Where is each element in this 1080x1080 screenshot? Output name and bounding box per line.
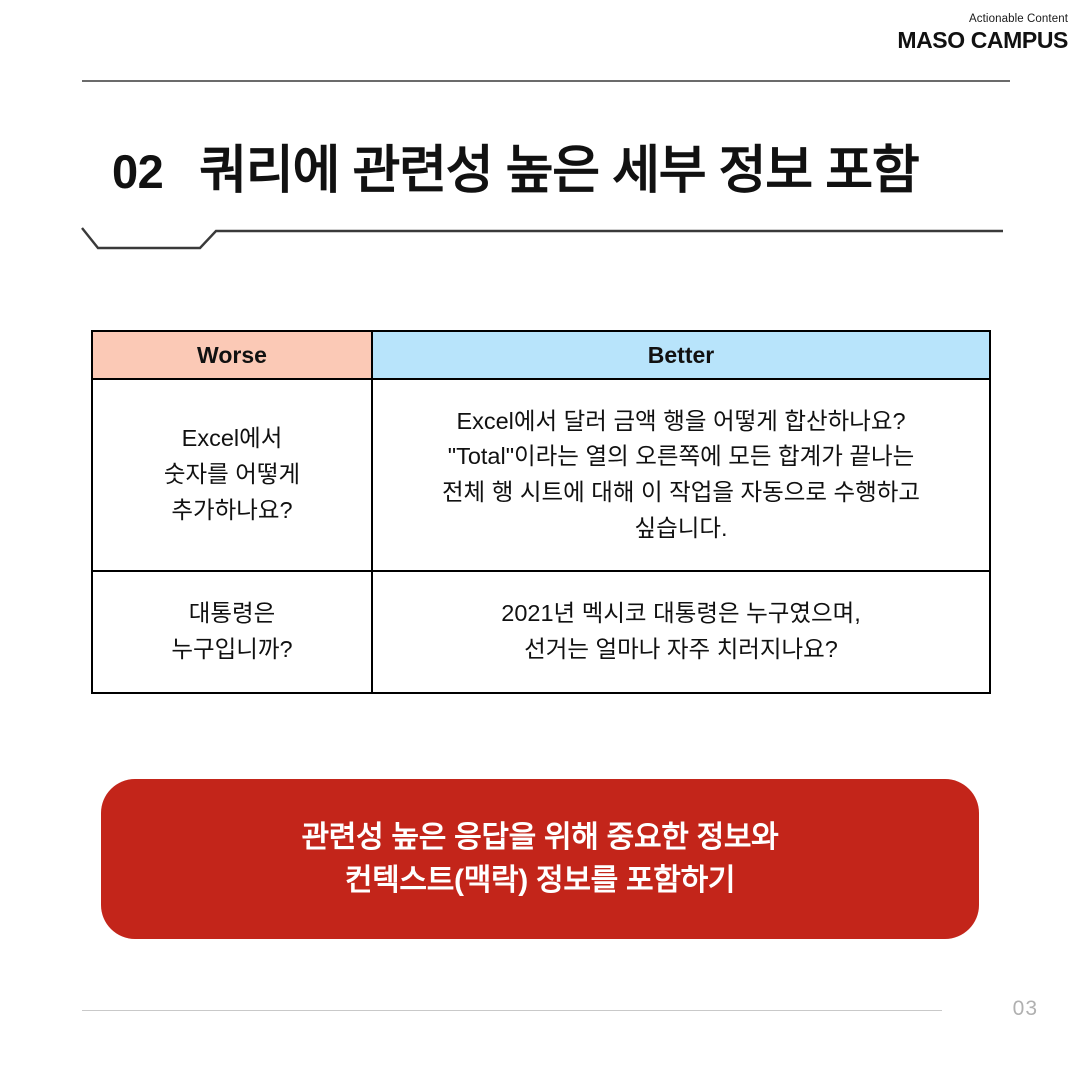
notch-decoration-icon [78, 222, 1003, 256]
callout-text: 관련성 높은 응답을 위해 중요한 정보와컨텍스트(맥락) 정보를 포함하기 [302, 816, 779, 903]
footer-divider [82, 1010, 942, 1011]
cell-worse-2: 대통령은누구입니까? [92, 571, 372, 693]
title-label: 쿼리에 관련성 높은 세부 정보 포함 [199, 128, 918, 203]
brand-logo: Actionable Content MASO CAMPUS [897, 14, 1068, 52]
title-number: 02 [112, 144, 163, 199]
page-title: 02 쿼리에 관련성 높은 세부 정보 포함 [112, 128, 918, 203]
brand-name: MASO CAMPUS [897, 29, 1068, 52]
callout-banner: 관련성 높은 응답을 위해 중요한 정보와컨텍스트(맥락) 정보를 포함하기 [101, 779, 979, 939]
cell-better-1: Excel에서 달러 금액 행을 어떻게 합산하나요?"Total"이라는 열의… [372, 379, 990, 571]
page-number: 03 [1013, 997, 1038, 1021]
table-row: 대통령은누구입니까? 2021년 멕시코 대통령은 누구였으며,선거는 얼마나 … [92, 571, 990, 693]
brand-tagline: Actionable Content [897, 14, 1068, 26]
slide-root: Actionable Content MASO CAMPUS 02 쿼리에 관련… [0, 0, 1080, 1080]
comparison-table: Worse Better Excel에서숫자를 어떻게추가하나요? Excel에… [91, 330, 991, 694]
column-header-worse: Worse [92, 331, 372, 379]
cell-worse-1: Excel에서숫자를 어떻게추가하나요? [92, 379, 372, 571]
table-header-row: Worse Better [92, 331, 990, 379]
table-row: Excel에서숫자를 어떻게추가하나요? Excel에서 달러 금액 행을 어떻… [92, 379, 990, 571]
cell-better-2: 2021년 멕시코 대통령은 누구였으며,선거는 얼마나 자주 치러지나요? [372, 571, 990, 693]
header-divider [82, 80, 1010, 82]
column-header-better: Better [372, 331, 990, 379]
